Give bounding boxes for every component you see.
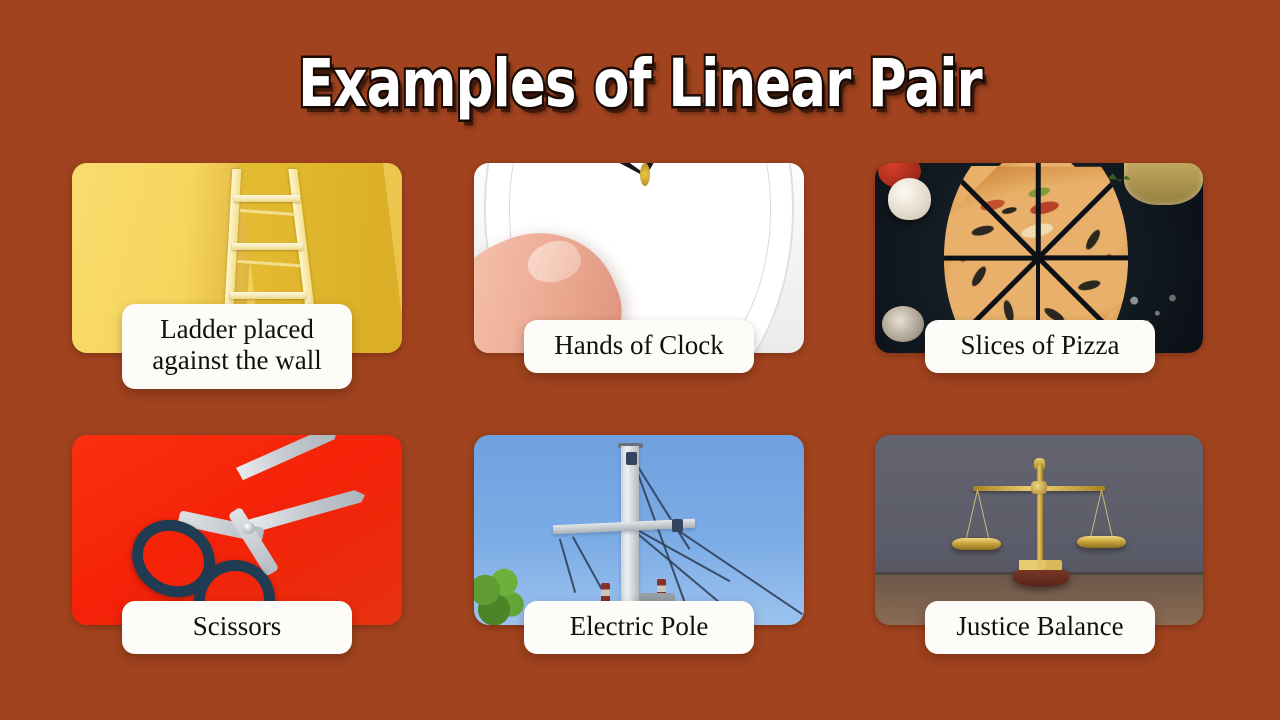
power-wire [559,538,576,592]
wire-clamp [626,452,637,465]
examples-grid: Ladder placed against the wall 10 11 12 … [72,163,1200,688]
example-card-clock[interactable]: 10 11 12 1 Hands of Clock [474,163,804,353]
electric-pole-image [474,435,804,625]
fingernail [521,233,586,291]
tree-foliage [474,564,527,625]
ladder-rung [234,195,300,202]
balance-chain [966,490,978,538]
balance-hub [1031,481,1047,494]
example-card-ladder[interactable]: Ladder placed against the wall [72,163,402,353]
pole-mast [621,446,639,625]
card-label-scissors: Scissors [122,601,352,654]
garlic-bulb [888,178,931,220]
scissors-blade-upper [236,435,342,488]
pizza-cut [1038,256,1127,261]
balance-pan-left [952,538,1001,550]
pizza-cut [1036,163,1041,258]
balance-chain [977,490,989,538]
card-label-electric-pole: Electric Pole [524,601,754,654]
ladder-rung [232,243,303,250]
balance-pan-right [1077,536,1126,548]
example-card-justice-balance[interactable]: Justice Balance [875,435,1205,625]
onion [882,306,925,342]
scissors-blade-lower [247,488,368,533]
balance-chain [1090,490,1102,538]
pizza-cut [944,256,1038,261]
example-card-electric-pole[interactable]: Electric Pole [474,435,804,625]
coins [1019,560,1062,570]
example-card-pizza[interactable]: Slices of Pizza [875,163,1205,353]
example-card-scissors[interactable]: Scissors [72,435,402,625]
card-label-pizza: Slices of Pizza [925,320,1155,373]
page-title: Examples of Linear Pair [128,44,1152,124]
card-label-ladder: Ladder placed against the wall [122,304,352,389]
justice-balance-image [875,435,1203,625]
scissors-pivot-screw [242,522,255,533]
balance-chain [1101,490,1113,538]
drinking-glass [1124,163,1203,205]
slide-canvas: Examples of Linear Pair Ladder placed ag… [0,0,1280,720]
card-label-justice-balance: Justice Balance [925,601,1155,654]
ladder-rung [230,292,306,299]
wire-clamp [672,519,683,532]
clock-center-cap [640,163,650,186]
scissors-image [72,435,402,625]
card-label-clock: Hands of Clock [524,320,754,373]
